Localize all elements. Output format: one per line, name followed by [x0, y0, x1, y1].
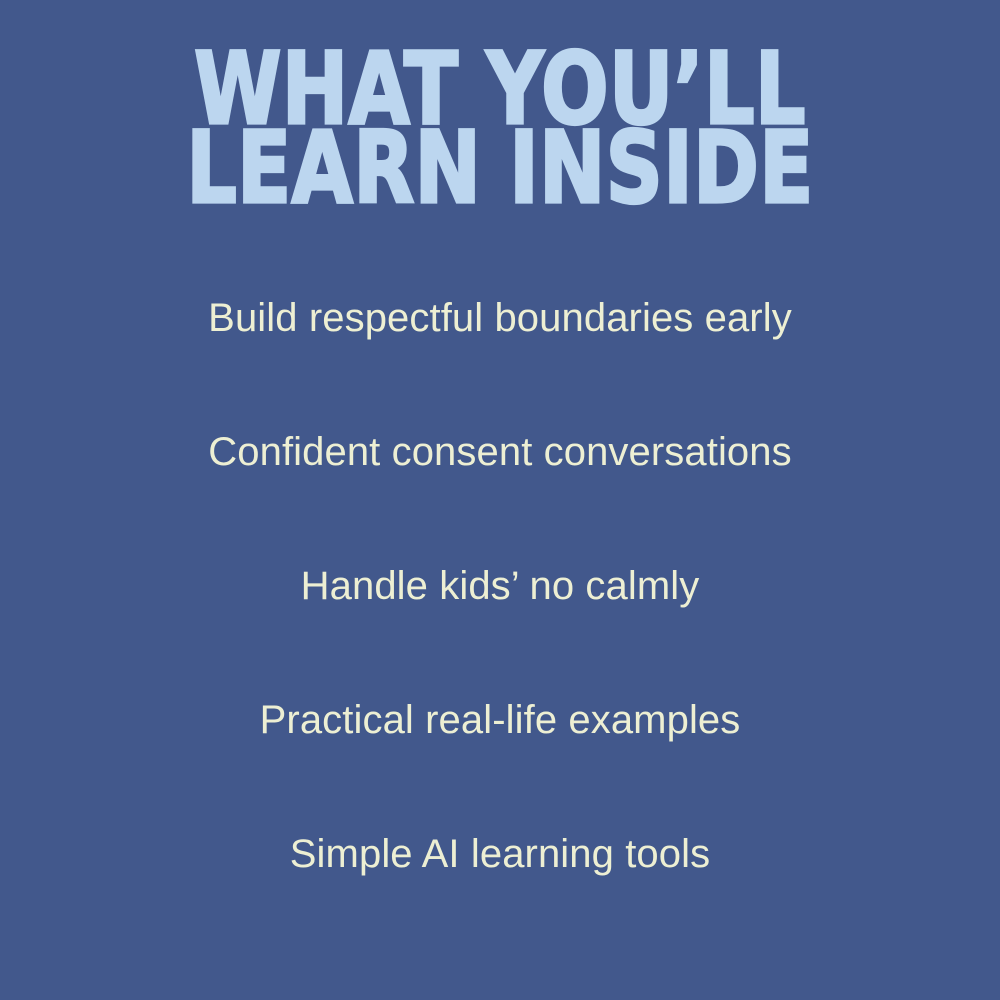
- list-item: Build respectful boundaries early: [0, 286, 1000, 420]
- list-item: Practical real-life examples: [0, 688, 1000, 822]
- page-title: WHAT YOU’LL LEARN INSIDE: [0, 44, 1000, 207]
- list-item: Handle kids’ no calmly: [0, 554, 1000, 688]
- promo-slide: WHAT YOU’LL LEARN INSIDE Build respectfu…: [0, 0, 1000, 1000]
- page-title-line-2: LEARN INSIDE: [70, 123, 930, 214]
- list-item: Confident consent conversations: [0, 420, 1000, 554]
- list-item: Simple AI learning tools: [0, 822, 1000, 956]
- benefits-list: Build respectful boundaries early Confid…: [0, 286, 1000, 956]
